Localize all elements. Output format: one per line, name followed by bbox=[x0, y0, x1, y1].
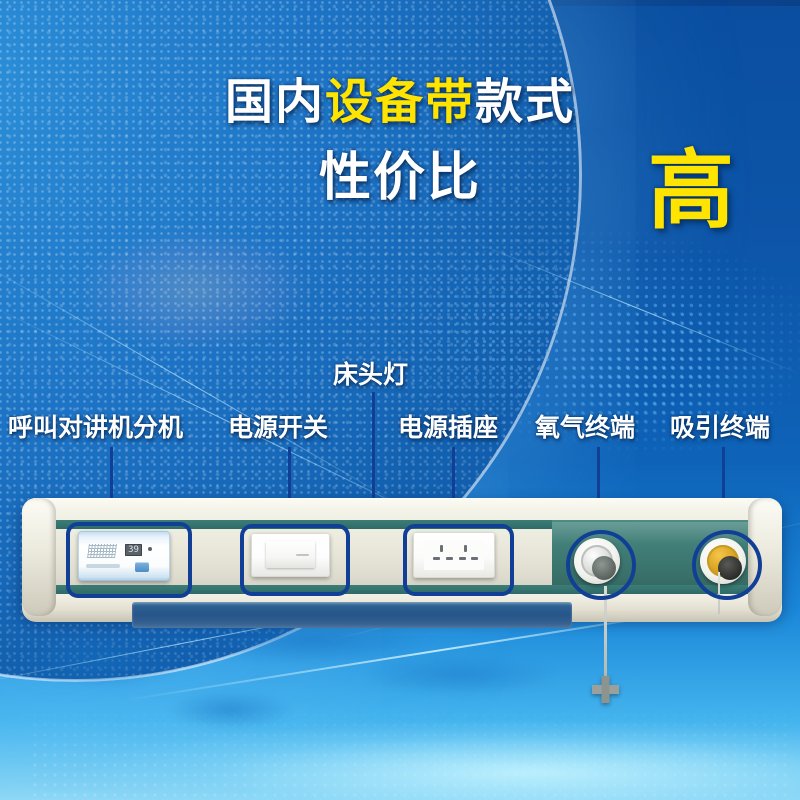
headline-big-word: 高 bbox=[648, 148, 734, 234]
highlight-box-power-switch bbox=[240, 524, 350, 596]
poster-canvas: 国内设备带款式 性价比 高 呼叫对讲机分机 电源开关 床头灯 电源插座 氧气终端… bbox=[0, 0, 800, 800]
bottom-glow bbox=[0, 690, 800, 800]
highlight-box-intercom bbox=[66, 522, 192, 598]
panel-end-cap-left bbox=[22, 498, 56, 616]
callout-label-power-socket: 电源插座 bbox=[398, 415, 498, 440]
hanging-cord bbox=[604, 586, 607, 682]
callout-label-suction: 吸引终端 bbox=[670, 415, 770, 440]
callout-label-intercom: 呼叫对讲机分机 bbox=[8, 415, 183, 440]
callout-label-bed-light: 床头灯 bbox=[333, 362, 408, 387]
highlight-box-power-socket bbox=[403, 524, 514, 596]
probe-connector-icon[interactable] bbox=[592, 676, 619, 703]
bed-light-diffuser[interactable] bbox=[132, 602, 572, 628]
callout-label-oxygen: 氧气终端 bbox=[535, 415, 635, 440]
highlight-circle-suction bbox=[692, 530, 762, 600]
lens-flare bbox=[80, 230, 310, 350]
highlight-circle-oxygen bbox=[566, 530, 636, 600]
callout-label-power-switch: 电源开关 bbox=[228, 415, 328, 440]
